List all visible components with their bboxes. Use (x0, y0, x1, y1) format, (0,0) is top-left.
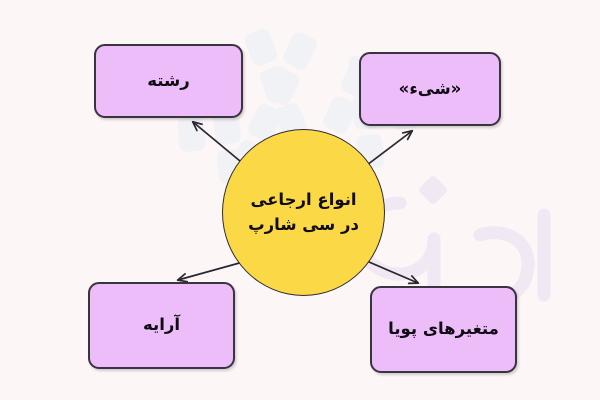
arrow-hub-to-array (178, 262, 243, 280)
diagram-canvas: انواع ارجاعی در سی شارپ رشته «شیء» آرایه… (0, 0, 600, 400)
hub-node-reference-types[interactable]: انواع ارجاعی در سی شارپ (222, 129, 385, 296)
arrow-hub-to-object (363, 131, 412, 168)
node-dynamic[interactable]: متغیرهای پویا (370, 286, 517, 373)
arrow-hub-to-dynamic (362, 259, 418, 283)
hub-label-line2: در سی شارپ (248, 216, 359, 234)
node-string[interactable]: رشته (94, 44, 243, 118)
hub-label-line1: انواع ارجاعی (250, 191, 356, 209)
node-label-dynamic: متغیرهای پویا (388, 321, 499, 338)
node-label-object: «شیء» (399, 81, 462, 98)
node-label-string: رشته (147, 73, 189, 90)
node-array[interactable]: آرایه (88, 282, 235, 369)
node-object[interactable]: «شیء» (359, 52, 501, 126)
arrow-hub-to-string (193, 122, 246, 166)
node-label-array: آرایه (143, 317, 180, 334)
